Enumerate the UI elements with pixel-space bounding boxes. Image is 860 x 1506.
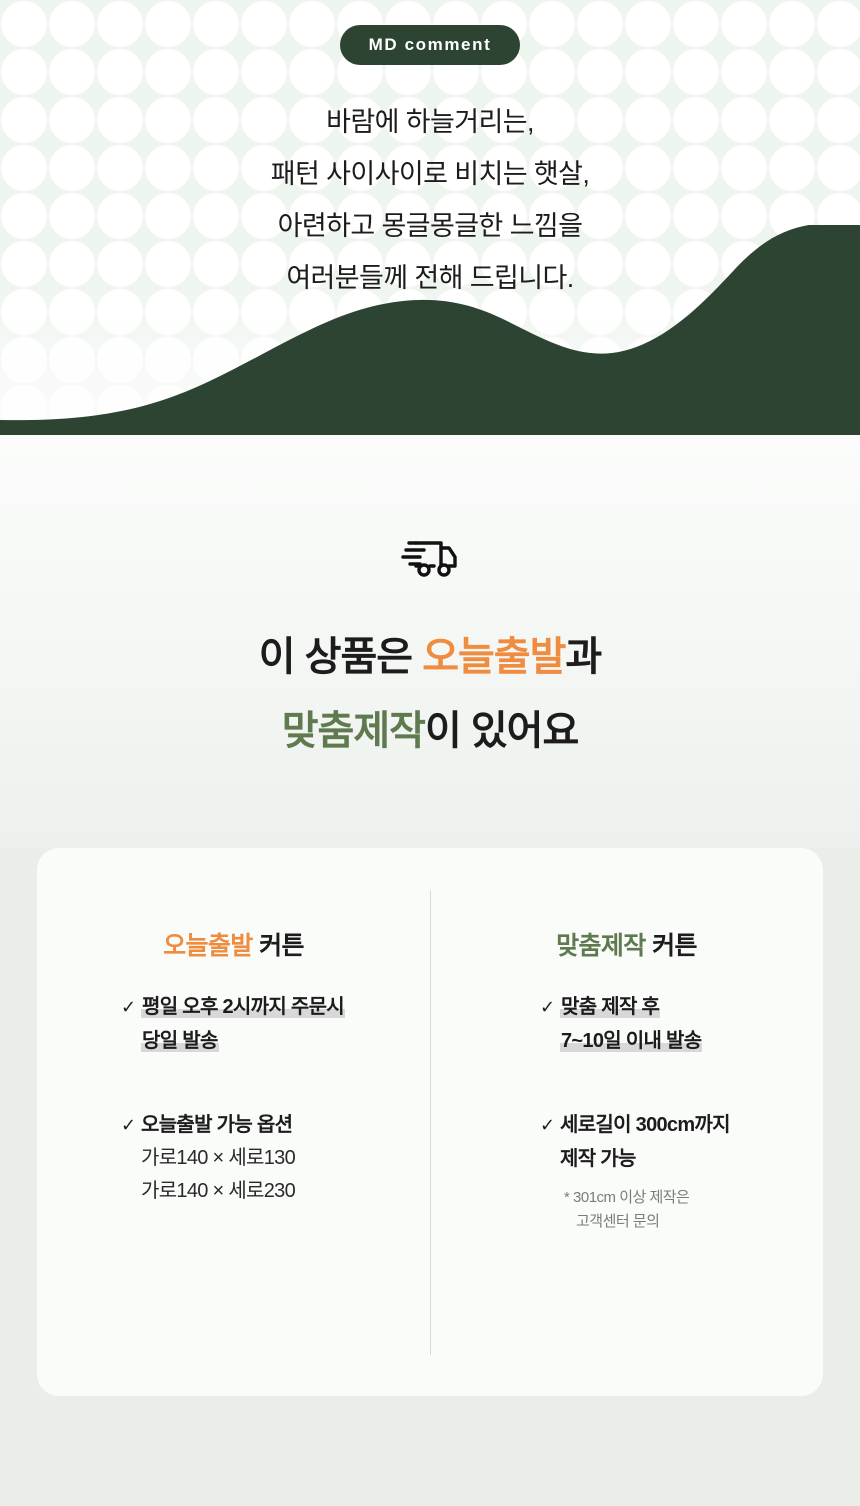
- list-item: ✓오늘출발 가능 옵션 가로140 × 세로130 가로140 × 세로230: [121, 1108, 430, 1208]
- headline-suffix-2: 이 있어요: [425, 709, 578, 753]
- md-comment-badge: MD comment: [340, 25, 521, 65]
- check-icon: ✓: [540, 990, 560, 1024]
- shipping-headline: 이 상품은 오늘출발과 맞춤제작이 있어요: [0, 620, 860, 768]
- column-today-dispatch: 오늘출발 커튼 ✓평일 오후 2시까지 주문시 당일 발송 ✓오늘출발 가능 옵…: [37, 848, 430, 1396]
- list-item-line: ✓평일 오후 2시까지 주문시: [121, 990, 430, 1024]
- custom-made-note: * 301cm 이상 제작은 고객센터 문의: [540, 1186, 823, 1234]
- check-icon: ✓: [540, 1108, 560, 1142]
- list-item-text: 맞춤 제작 후: [560, 996, 660, 1018]
- md-copy-line-2: 패턴 사이사이로 비치는 햇살,: [0, 148, 860, 200]
- note-line: 고객센터 문의: [564, 1210, 823, 1234]
- custom-made-items: ✓맞춤 제작 후 7~10일 이내 발송 ✓세로길이 300cm까지 제작 가능: [430, 990, 823, 1262]
- md-copy-line-4: 여러분들께 전해 드립니다.: [0, 252, 860, 304]
- list-item-line: 7~10일 이내 발송: [540, 1024, 823, 1058]
- option-size-line: 가로140 × 세로130: [121, 1142, 430, 1175]
- list-item-text: 당일 발송: [141, 1030, 219, 1052]
- list-item-text: 제작 가능: [560, 1148, 636, 1170]
- list-item-line: ✓오늘출발 가능 옵션: [121, 1108, 430, 1142]
- list-item-line: 당일 발송: [121, 1024, 430, 1058]
- list-item: ✓세로길이 300cm까지 제작 가능 * 301cm 이상 제작은 고객센터 …: [540, 1108, 823, 1234]
- list-item-text: 세로길이 300cm까지: [560, 1114, 730, 1136]
- column-custom-made: 맞춤제작 커튼 ✓맞춤 제작 후 7~10일 이내 발송 ✓세로길이 300cm…: [430, 848, 823, 1396]
- check-icon: ✓: [121, 1108, 141, 1142]
- spacer: [121, 1086, 430, 1108]
- product-detail-page: MD comment 바람에 하늘거리는, 패턴 사이사이로 비치는 햇살, 아…: [0, 0, 860, 1506]
- list-item-line: 제작 가능: [540, 1142, 823, 1176]
- list-item-text: 평일 오후 2시까지 주문시: [141, 996, 345, 1018]
- list-item-line: ✓세로길이 300cm까지: [540, 1108, 823, 1142]
- column-title-accent: 맞춤제작: [556, 932, 646, 960]
- headline-accent-custom-made: 맞춤제작: [282, 709, 425, 753]
- md-comment-hero: MD comment 바람에 하늘거리는, 패턴 사이사이로 비치는 햇살, 아…: [0, 0, 860, 435]
- list-item-text: 오늘출발 가능 옵션: [141, 1114, 292, 1136]
- md-comment-badge-wrap: MD comment: [0, 25, 860, 65]
- delivery-truck-icon-wrap: [0, 536, 860, 585]
- today-dispatch-items: ✓평일 오후 2시까지 주문시 당일 발송 ✓오늘출발 가능 옵션 가로140 …: [37, 990, 430, 1236]
- md-copy-line-1: 바람에 하늘거리는,: [0, 96, 860, 148]
- headline-accent-today-dispatch: 오늘출발: [422, 635, 565, 679]
- headline-line-1: 이 상품은 오늘출발과: [0, 620, 860, 694]
- headline-suffix-1: 과: [565, 635, 601, 679]
- list-item: ✓평일 오후 2시까지 주문시 당일 발송: [121, 990, 430, 1058]
- note-line: * 301cm 이상 제작은: [564, 1186, 823, 1210]
- list-item: ✓맞춤 제작 후 7~10일 이내 발송: [540, 990, 823, 1058]
- headline-line-2: 맞춤제작이 있어요: [0, 694, 860, 768]
- shipping-options-card: 오늘출발 커튼 ✓평일 오후 2시까지 주문시 당일 발송 ✓오늘출발 가능 옵…: [37, 848, 823, 1396]
- column-title-today-dispatch: 오늘출발 커튼: [37, 926, 430, 962]
- column-title-accent: 오늘출발: [163, 932, 253, 960]
- column-title-rest: 커튼: [646, 932, 697, 960]
- column-title-rest: 커튼: [253, 932, 304, 960]
- column-title-custom-made: 맞춤제작 커튼: [430, 926, 823, 962]
- list-item-line: ✓맞춤 제작 후: [540, 990, 823, 1024]
- check-icon: ✓: [121, 990, 141, 1024]
- list-item-text: 7~10일 이내 발송: [560, 1030, 702, 1052]
- spacer: [540, 1086, 823, 1108]
- option-size-line: 가로140 × 세로230: [121, 1175, 430, 1208]
- headline-prefix: 이 상품은: [259, 635, 422, 679]
- md-copy-line-3: 아련하고 몽글몽글한 느낌을: [0, 200, 860, 252]
- delivery-truck-icon: [400, 536, 460, 580]
- md-comment-copy: 바람에 하늘거리는, 패턴 사이사이로 비치는 햇살, 아련하고 몽글몽글한 느…: [0, 96, 860, 304]
